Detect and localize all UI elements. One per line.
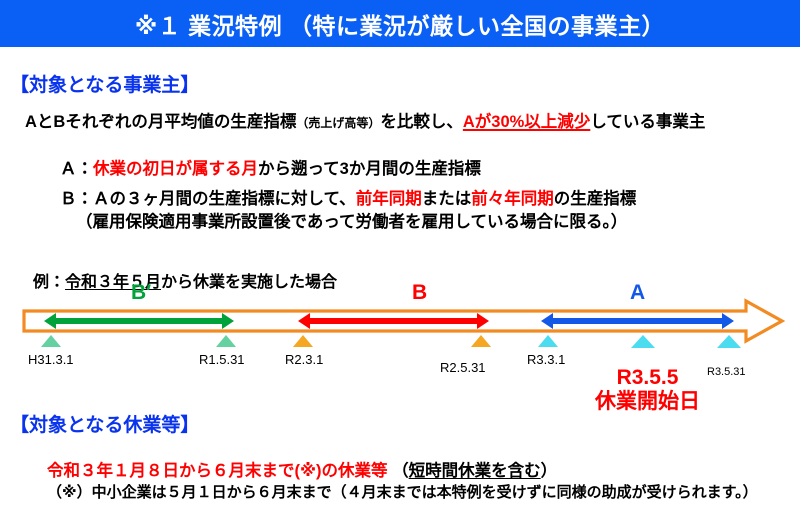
tick-marker-r3-5-5	[631, 335, 655, 348]
criteria-text-highlight-decline: Aが30%以上減少	[463, 113, 590, 131]
leave-start-date: R3.5.5	[617, 366, 679, 389]
definition-a-line: Ａ：休業の初日が属する月から遡って3か月間の生産指標	[60, 155, 481, 179]
tick-marker-r3-3-1	[538, 335, 558, 347]
definition-a-highlight: 休業の初日が属する月	[93, 160, 258, 178]
leave-sme-note: （※）中小企業は５月１日から６月末まで（４月末までは本特例を受けずに同様の助成が…	[47, 481, 758, 502]
page-title: ※１ 業況特例 （特に業況が厳しい全国の事業主）	[135, 7, 665, 41]
tick-label-h31-3-1: H31.3.1	[28, 352, 74, 367]
tick-marker-r2-5-31	[471, 335, 491, 347]
tick-label-r1-5-31: R1.5.31	[199, 352, 245, 367]
criteria-text-sales-note: （売上げ高等）	[296, 116, 380, 130]
tick-marker-r3-5-31	[717, 335, 741, 348]
timeline-diagram: B′ B A H31.3.1 R1.5.31 R2.3.1 R2.5.31 R3…	[0, 280, 800, 400]
page-banner: ※１ 業況特例 （特に業況が厳しい全国の事業主）	[0, 0, 800, 47]
section-heading-target-leave: 【対象となる休業等】	[10, 410, 199, 437]
definition-b-part1: Ａの３ヶ月間の生産指標に対して、	[93, 190, 356, 208]
section-heading-target-employer: 【対象となる事業主】	[10, 70, 199, 97]
definition-b-rest: の生産指標	[554, 190, 637, 208]
tick-label-r3-5-31: R3.5.31	[707, 366, 746, 378]
tick-marker-h31-3-1	[41, 335, 61, 347]
timeline-label-a: A	[630, 281, 645, 305]
leave-paren-open: （	[392, 462, 409, 480]
leave-start-caption: 休業開始日	[595, 390, 700, 413]
criteria-text-part1: AとBそれぞれの月平均値の生産指標	[25, 113, 296, 131]
leave-paren-close: ）	[541, 462, 558, 480]
definition-b-mid: または	[422, 190, 472, 208]
timeline-label-bprime: B′	[131, 281, 151, 305]
definition-a-prefix: Ａ：	[60, 160, 93, 178]
timeline-label-b: B	[412, 281, 427, 305]
definition-a-rest: から遡って3か月間の生産指標	[258, 160, 481, 178]
definition-b-highlight-two-years-ago: 前々年同期	[471, 190, 554, 208]
definition-b-highlight-prev-year: 前年同期	[356, 190, 422, 208]
employer-criteria-line: AとBそれぞれの月平均値の生産指標（売上げ高等）を比較し、Aが30%以上減少して…	[25, 108, 705, 132]
leave-period-line: 令和３年１月８日から６月末まで(※)の休業等 （短時間休業を含む）	[47, 457, 557, 481]
tick-marker-r2-3-1	[293, 335, 313, 347]
leave-start-marker-label: R3.5.5 休業開始日	[595, 366, 700, 413]
definition-b-line: Ｂ：Ａの３ヶ月間の生産指標に対して、前年同期または前々年同期の生産指標	[60, 185, 636, 209]
tick-label-r2-3-1: R2.3.1	[285, 352, 323, 367]
tick-label-r2-5-31: R2.5.31	[440, 360, 486, 375]
definition-b-note: （雇用保険適用事業所設置後であって労働者を雇用している場合に限る。）	[76, 208, 627, 232]
tick-marker-r1-5-31	[216, 335, 236, 347]
criteria-text-part5: している事業主	[590, 113, 705, 131]
criteria-text-part3: を比較し、	[380, 113, 463, 131]
leave-period-red-text: 令和３年１月８日から６月末まで(※)の休業等	[47, 462, 392, 480]
definition-b-prefix: Ｂ：	[60, 190, 93, 208]
leave-short-time-note: 短時間休業を含む	[409, 462, 541, 480]
tick-label-r3-3-1: R3.3.1	[527, 352, 565, 367]
